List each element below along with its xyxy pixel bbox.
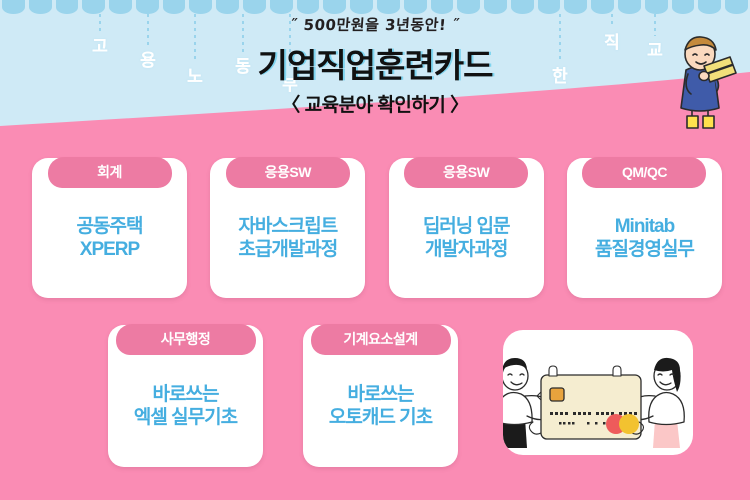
course-category: 기계요소설계 bbox=[311, 324, 451, 355]
course-title-line2: 품질경영실무 bbox=[595, 238, 694, 261]
course-card[interactable]: QM/QC Minitab 품질경영실무 bbox=[567, 158, 722, 298]
course-category: 응용SW bbox=[226, 157, 350, 188]
category-pill-wrap: QM/QC bbox=[582, 158, 706, 188]
course-title: Minitab 품질경영실무 bbox=[589, 188, 700, 288]
course-title-line2: 개발자과정 bbox=[425, 238, 507, 261]
category-pill-wrap: 응용SW bbox=[226, 158, 350, 188]
header-banner: 고 용 노 동 부 한 직 교 ˝ 500만원을 3년동안! ˝ 기업직업훈련카… bbox=[0, 0, 750, 160]
course-row-1: 회계 공동주택 XPERP 응용SW 자바스크립트 초급개발과정 응용SW 딥러… bbox=[32, 158, 722, 298]
course-title: 바로쓰는 엑셀 실무기초 bbox=[128, 355, 243, 457]
people-holding-card bbox=[503, 330, 693, 455]
credit-card-illustration bbox=[503, 330, 693, 455]
course-title: 딥러닝 입문 개발자과정 bbox=[417, 188, 516, 288]
course-category: 사무행정 bbox=[116, 324, 256, 355]
category-pill-wrap: 회계 bbox=[48, 158, 172, 188]
course-category: 회계 bbox=[48, 157, 172, 188]
course-title-line1: 바로쓰는 bbox=[153, 383, 219, 406]
course-card[interactable]: 응용SW 딥러닝 입문 개발자과정 bbox=[389, 158, 544, 298]
course-title: 공동주택 XPERP bbox=[71, 188, 149, 288]
course-title: 자바스크립트 초급개발과정 bbox=[232, 188, 343, 288]
course-title-line1: 자바스크립트 bbox=[238, 215, 337, 238]
course-title-line2: XPERP bbox=[80, 238, 139, 261]
course-title-line2: 오토캐드 기초 bbox=[329, 406, 432, 429]
category-pill-wrap: 응용SW bbox=[404, 158, 528, 188]
course-card[interactable]: 응용SW 자바스크립트 초급개발과정 bbox=[210, 158, 365, 298]
course-title-line1: Minitab bbox=[615, 215, 675, 238]
course-title-line2: 초급개발과정 bbox=[238, 238, 337, 261]
course-title-line2: 엑셀 실무기초 bbox=[134, 406, 237, 429]
course-category: QM/QC bbox=[582, 157, 706, 188]
course-title-line1: 바로쓰는 bbox=[348, 383, 414, 406]
card-brand-logo bbox=[606, 414, 639, 434]
page-subtitle: 〈 교육분야 확인하기 〉 bbox=[0, 90, 750, 117]
course-title-line1: 딥러닝 입문 bbox=[423, 215, 510, 238]
course-card[interactable]: 회계 공동주택 XPERP bbox=[32, 158, 187, 298]
course-title-line1: 공동주택 bbox=[77, 215, 143, 238]
mascot-illustration bbox=[668, 28, 738, 133]
course-card[interactable]: 기계요소설계 바로쓰는 오토캐드 기초 bbox=[303, 325, 458, 467]
page-title: 기업직업훈련카드 bbox=[0, 39, 750, 87]
course-category: 응용SW bbox=[404, 157, 528, 188]
course-title: 바로쓰는 오토캐드 기초 bbox=[323, 355, 438, 457]
course-row-2: 사무행정 바로쓰는 엑셀 실무기초 기계요소설계 바로쓰는 오토캐드 기초 bbox=[108, 325, 458, 467]
category-pill-wrap: 기계요소설계 bbox=[311, 325, 451, 355]
course-card[interactable]: 사무행정 바로쓰는 엑셀 실무기초 bbox=[108, 325, 263, 467]
category-pill-wrap: 사무행정 bbox=[116, 325, 256, 355]
title-block: ˝ 500만원을 3년동안! ˝ 기업직업훈련카드 〈 교육분야 확인하기 〉 bbox=[0, 14, 750, 117]
tagline: ˝ 500만원을 3년동안! ˝ bbox=[0, 14, 750, 35]
